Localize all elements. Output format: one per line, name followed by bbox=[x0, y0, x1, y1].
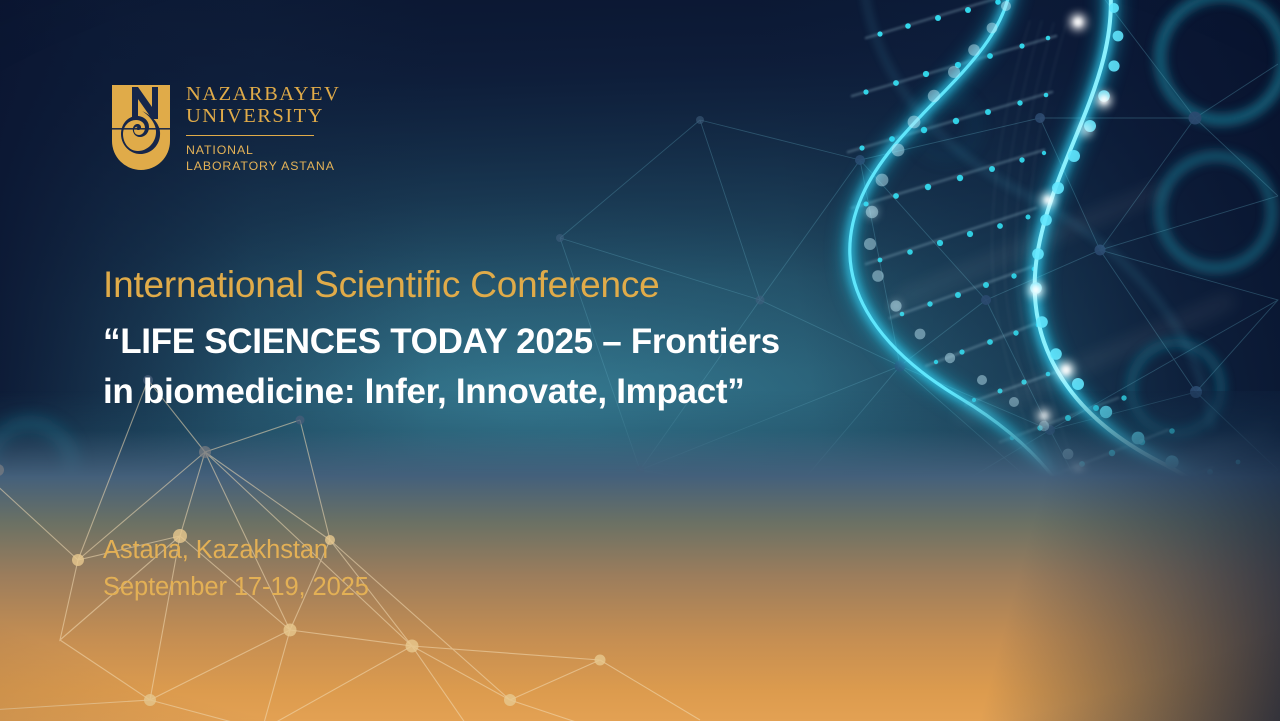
venue-location: Astana, Kazakhstan bbox=[103, 532, 369, 569]
conference-title-line2: in biomedicine: Infer, Innovate, Impact” bbox=[103, 367, 780, 417]
headline-block: International Scientific Conference “LIF… bbox=[103, 264, 780, 417]
logo-wordmark-line2: UNIVERSITY bbox=[186, 106, 340, 128]
logo-wordmark-block: NAZARBAYEV UNIVERSITY NATIONAL LABORATOR… bbox=[186, 82, 340, 174]
logo-subtitle-line1: NATIONAL bbox=[186, 143, 340, 158]
logo-wordmark-line1: NAZARBAYEV bbox=[186, 84, 340, 106]
venue-block: Astana, Kazakhstan September 17-19, 2025 bbox=[103, 532, 369, 606]
logo-subtitle-line2: LABORATORY ASTANA bbox=[186, 159, 340, 174]
conference-title-line1: “LIFE SCIENCES TODAY 2025 – Frontiers bbox=[103, 317, 780, 367]
logo-divider-rule bbox=[186, 135, 314, 137]
conference-banner: NAZARBAYEV UNIVERSITY NATIONAL LABORATOR… bbox=[0, 0, 1280, 721]
venue-dates: September 17-19, 2025 bbox=[103, 569, 369, 606]
nazarbayev-university-logo: NAZARBAYEV UNIVERSITY NATIONAL LABORATOR… bbox=[112, 82, 340, 174]
banner-content: NAZARBAYEV UNIVERSITY NATIONAL LABORATOR… bbox=[0, 0, 1280, 721]
nu-monogram-icon bbox=[112, 85, 170, 171]
conference-eyebrow: International Scientific Conference bbox=[103, 264, 780, 305]
conference-title: “LIFE SCIENCES TODAY 2025 – Frontiers in… bbox=[103, 317, 780, 416]
